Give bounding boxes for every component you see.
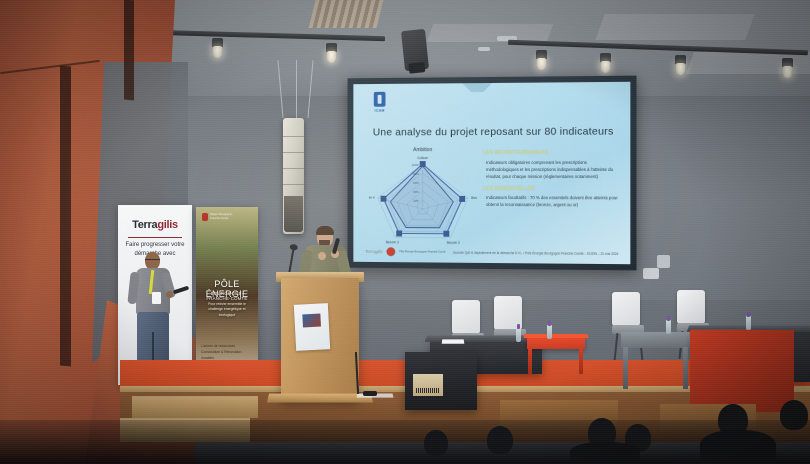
terragilis-banner-title: Terragilis (122, 219, 188, 231)
slide-notch (462, 83, 492, 92)
standing-man-badge (152, 292, 161, 304)
presenter-hair (316, 226, 334, 235)
audience-row (0, 420, 810, 464)
spot-light (675, 55, 686, 64)
banner-rule (128, 237, 182, 238)
audience-head (424, 430, 448, 456)
region-logo-mark (202, 213, 208, 221)
slide-body: Ambition (369, 147, 620, 247)
wall-outlet (643, 268, 659, 279)
slide-content: ICAM Une analyse du projet reposant sur … (353, 82, 630, 264)
podium-poster-image (302, 314, 321, 328)
ceiling-slab (595, 14, 754, 40)
slide-text-column: LES INCONTOURNABLES Indicateurs obligato… (483, 147, 620, 247)
svg-text:20%: 20% (413, 199, 419, 203)
section-body-incontournables: Indicateurs obligatoires comprenant les … (483, 158, 620, 180)
line-array-speaker (283, 118, 304, 234)
speaker-rigging (276, 60, 320, 122)
region-logo: Région Bourgogne-Franche-Comté (202, 212, 242, 221)
svg-text:Besoin 1: Besoin 1 (471, 196, 477, 200)
water-bottle (516, 328, 521, 342)
audience-shoulders (700, 430, 776, 464)
chart-title: Ambition (369, 147, 477, 153)
ceiling-vent (309, 0, 384, 28)
svg-text:Besoin 2: Besoin 2 (447, 241, 460, 245)
ceiling-projector (401, 29, 429, 71)
spot-light (212, 38, 223, 47)
shipping-label (413, 374, 443, 396)
spot-light (536, 50, 547, 59)
icam-logo: ICAM (365, 92, 394, 120)
stage-step (132, 396, 258, 418)
grey-side-table (621, 332, 691, 348)
terragilis-footer-logo: Terragilis (365, 249, 383, 254)
audience-head (487, 426, 513, 454)
red-riser (690, 330, 794, 412)
svg-text:Culture: Culture (417, 156, 428, 160)
standing-man-hand (166, 291, 173, 298)
slide-footer: Terragilis Pôle Énergie Bourgogne-Franch… (365, 247, 622, 258)
conference-hall-photo: ICAM Une analyse du projet reposant sur … (0, 0, 810, 464)
region-logo-label: Région Bourgogne-Franche-Comté (210, 213, 242, 219)
presenter-hand (318, 252, 326, 260)
red-side-table (527, 337, 585, 349)
svg-text:100%: 100% (412, 163, 420, 167)
ceiling-slab (427, 24, 554, 42)
spot-light (326, 43, 337, 52)
water-bottle (746, 316, 751, 330)
standing-man-glasses (145, 259, 160, 262)
wall-panel (657, 255, 670, 268)
pole-energie-subtitle: BOURGOGNE-FRANCHE-COMTÉ (199, 291, 255, 301)
table-papers (442, 339, 465, 343)
section-heading-incontournables: LES INCONTOURNABLES (483, 150, 620, 156)
audience-shoulders (570, 442, 640, 464)
radar-chart: Culture Besoin 1 Besoin 2 Besoin 3 Besoi… (369, 154, 477, 246)
slide-footer-text: Journée QAI & déploiement de la démarche… (453, 250, 619, 255)
projection-screen: ICAM Une analyse du projet reposant sur … (348, 76, 637, 271)
slide-title: Une analyse du projet reposant sur 80 in… (373, 125, 616, 138)
water-bottle (547, 325, 552, 339)
audience-head (780, 400, 808, 430)
section-body-essentielles: Indicateurs facultatifs : 70 % des essen… (483, 194, 620, 209)
water-bottle (666, 320, 671, 334)
svg-text:Besoin 4: Besoin 4 (369, 196, 375, 200)
svg-text:80%: 80% (413, 172, 419, 176)
spot-light (600, 53, 611, 62)
left-wall-dark-stripe (124, 0, 134, 100)
spot-light (782, 58, 793, 67)
radar-chart-column: Ambition (369, 147, 477, 246)
floor-device (363, 391, 377, 396)
pole-energie-body: L'année de ressources Construction & Rén… (201, 344, 253, 361)
svg-text:40%: 40% (413, 190, 419, 194)
recessed-light (478, 47, 490, 51)
svg-text:60%: 60% (413, 181, 419, 185)
svg-text:Besoin 3: Besoin 3 (386, 240, 399, 244)
equipment-case (405, 352, 477, 410)
left-wall-dark-stripe (60, 66, 71, 367)
radar-svg: Culture Besoin 1 Besoin 2 Besoin 3 Besoi… (369, 154, 477, 246)
pole-energie-tagline: Pour relever ensemble le challenge énerg… (202, 302, 252, 318)
icam-logo-mark (374, 92, 386, 107)
barcode (416, 388, 440, 393)
icam-logo-text: ICAM (375, 108, 385, 112)
region-footer-label: Pôle Énergie Bourgogne-Franche-Comté (399, 250, 445, 253)
podium (281, 278, 359, 400)
section-heading-essentielles: LES ESSENTIELLES (483, 186, 620, 192)
podium-poster (294, 303, 330, 351)
region-footer-logo (387, 247, 396, 256)
